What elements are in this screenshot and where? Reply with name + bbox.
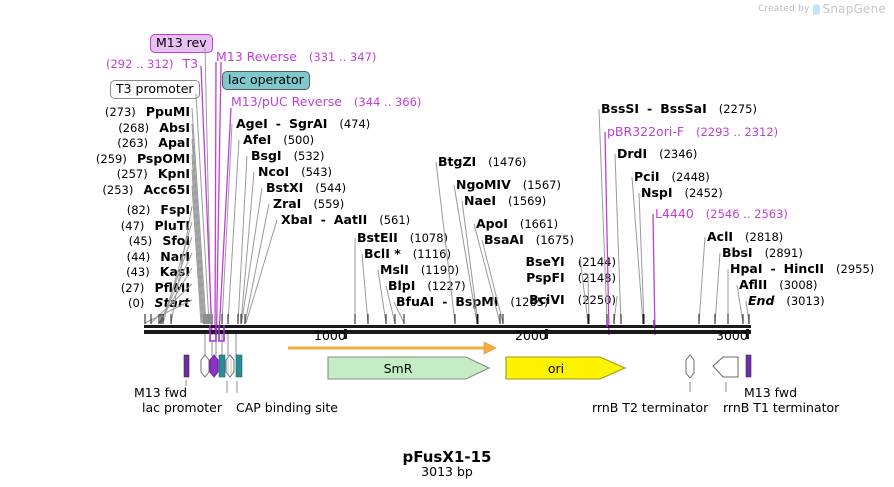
enzyme-row[interactable]: (44) NarI <box>0 246 190 262</box>
enzyme-name: BciVI <box>529 292 565 307</box>
enzyme-position: (544) <box>315 181 346 195</box>
enzyme-name: AgeI <box>236 116 268 131</box>
enzyme-row-bseyi[interactable]: BseYI (2144) <box>450 251 616 267</box>
enzyme-name-2: BssSaI <box>660 101 707 116</box>
enzyme-position: (0) <box>128 296 144 310</box>
enzyme-name-2: SgrAI <box>289 116 327 131</box>
boxed-label-m13-rev-text: M13 rev <box>156 35 207 50</box>
enzyme-separator: - <box>276 116 281 131</box>
enzyme-name: AclI <box>707 229 733 244</box>
enzyme-row-afei[interactable]: AfeI (500) <box>243 133 314 147</box>
enzyme-row-end[interactable]: End (3013) <box>748 294 825 308</box>
enzyme-position: (253) <box>102 183 133 197</box>
enzyme-position: (1661) <box>520 217 558 231</box>
enzyme-name: NcoI <box>258 164 289 179</box>
enzyme-name: BclI * <box>364 246 401 261</box>
enzyme-name-2: AatII <box>334 212 367 227</box>
primer-m13-reverse-range: (331 .. 347) <box>309 50 377 64</box>
feature-label-smr: SmR <box>328 361 468 376</box>
enzyme-list-right-bcivi: BciVI (2250) <box>450 289 616 308</box>
enzyme-position: (2955) <box>836 262 874 276</box>
enzyme-name: PciI <box>634 169 660 184</box>
enzyme-row-bcli[interactable]: BclI * (1116) <box>364 247 451 261</box>
primer-label-pbr322ori-f[interactable]: pBR322ori-F (2293 .. 2312) <box>607 125 778 139</box>
enzyme-row[interactable]: (43) KasI <box>0 261 190 277</box>
enzyme-list-left: (273) PpuMI (268) AbsI (263) ApaI (259) … <box>0 101 190 194</box>
plasmid-length: 3013 bp <box>0 464 894 479</box>
enzyme-row[interactable]: (268) AbsI <box>0 117 190 133</box>
snapgene-watermark: Created by SnapGene <box>758 2 886 16</box>
enzyme-name: BstEII <box>357 230 398 245</box>
enzyme-name: AflII <box>739 277 767 292</box>
enzyme-row[interactable]: (263) ApaI <box>0 132 190 148</box>
primer-brackets-right <box>607 320 654 327</box>
enzyme-name: XbaI <box>281 212 313 227</box>
enzyme-list-right-lower: BseYI (2144) PspFI (2148) <box>450 251 616 283</box>
enzyme-name: MslI <box>380 262 409 277</box>
enzyme-separator: - <box>770 261 775 276</box>
watermark-brand: SnapGene <box>823 2 886 16</box>
enzyme-name: BsgI <box>251 148 282 163</box>
enzyme-row-ngomiv[interactable]: NgoMIV (1567) <box>456 178 561 192</box>
enzyme-row[interactable]: (27) PflMI <box>0 277 190 293</box>
enzyme-position: (1116) <box>413 247 451 261</box>
feature-label-m13-fwd-left: M13 fwd <box>134 385 187 400</box>
feature-label-rrnb-t2-terminator: rrnB T2 terminator <box>592 400 708 415</box>
boxed-label-t3-promoter[interactable]: T3 promoter <box>110 80 200 99</box>
enzyme-name: NaeI <box>464 193 496 208</box>
enzyme-row-btgzi[interactable]: BtgZI (1476) <box>438 155 526 169</box>
feature-label-stems <box>186 380 237 393</box>
enzyme-name: BsaAI <box>484 232 524 247</box>
feature-label-lac-promoter: lac promoter <box>142 400 222 415</box>
plasmid-map-canvas: Created by SnapGene M13 rev lac operator… <box>0 0 894 487</box>
enzyme-row-nspi[interactable]: NspI (2452) <box>641 186 723 200</box>
enzyme-position: (1078) <box>410 231 448 245</box>
enzyme-row-bstei[interactable]: BstEII (1078) <box>357 231 448 245</box>
enzyme-row[interactable]: (82) FspI <box>0 199 190 215</box>
primer-t3-range: (292 .. 312) <box>106 57 174 71</box>
enzyme-row-msli[interactable]: MslI (1190) <box>380 263 459 277</box>
enzyme-name: Start <box>154 295 190 310</box>
enzyme-row-hpai-hincii[interactable]: HpaI - HincII (2955) <box>730 262 874 276</box>
primer-m13-puc-reverse-range: (344 .. 366) <box>354 95 422 109</box>
plasmid-backbone-top <box>144 325 751 328</box>
enzyme-row[interactable]: (259) PspOMI <box>0 148 190 164</box>
enzyme-name: BssSI <box>601 101 639 116</box>
ruler-label-1000: 1000 <box>314 328 346 343</box>
enzyme-name: End <box>748 293 774 308</box>
enzyme-position: (2346) <box>659 147 697 161</box>
feature-glyph-m13-fwd-right[interactable] <box>746 355 751 377</box>
enzyme-name: NspI <box>641 185 673 200</box>
enzyme-name: PspFI <box>526 270 565 285</box>
enzyme-name: ApoI <box>476 216 508 231</box>
feature-label-cap-binding-site: CAP binding site <box>236 400 338 415</box>
enzyme-row-bsssi-bsssai[interactable]: BssSI - BssSaI (2275) <box>601 102 757 116</box>
enzyme-name: AfeI <box>243 132 271 147</box>
feature-label-ori: ori <box>506 361 606 376</box>
enzyme-name: NgoMIV <box>456 177 511 192</box>
primer-brackets <box>210 325 224 341</box>
boxed-label-lac-operator-text: lac operator <box>228 72 304 87</box>
enzyme-row-bbsi[interactable]: BbsI (2891) <box>722 246 803 260</box>
enzyme-row-drdi[interactable]: DrdI (2346) <box>617 147 697 161</box>
primer-label-m13-reverse[interactable]: M13 Reverse (331 .. 347) <box>216 50 376 64</box>
enzyme-row-apoi[interactable]: ApoI (1661) <box>476 217 558 231</box>
enzyme-position: (559) <box>313 197 344 211</box>
enzyme-row-xbai-aatii[interactable]: XbaI - AatII (561) <box>281 213 410 227</box>
enzyme-row-bstxi[interactable]: BstXI (544) <box>266 181 346 195</box>
enzyme-position: (532) <box>294 149 325 163</box>
feature-glyph-rrnb-t2[interactable] <box>686 355 694 392</box>
enzyme-name: DrdI <box>617 146 647 161</box>
enzyme-position: (2148) <box>578 271 616 285</box>
watermark-prefix: Created by <box>758 4 810 14</box>
enzyme-row-bcivi[interactable]: BciVI (2250) <box>450 289 616 308</box>
enzyme-position: (2448) <box>672 170 710 184</box>
primer-label-t3[interactable]: (292 .. 312) T3 <box>106 57 198 71</box>
enzyme-list-left-lower: (82) FspI (47) PluTI (45) SfoI (44) NarI… <box>0 199 190 308</box>
boxed-label-m13-rev[interactable]: M13 rev <box>150 34 213 53</box>
enzyme-position: (1476) <box>488 155 526 169</box>
primer-label-l4440[interactable]: L4440 (2546 .. 2563) <box>655 207 788 221</box>
enzyme-name: BtgZI <box>438 154 476 169</box>
primer-l4440-name: L4440 <box>655 206 694 221</box>
enzyme-position: (2250) <box>578 293 616 307</box>
enzyme-name: Acc65I <box>143 182 190 197</box>
enzyme-row[interactable]: (47) PluTI <box>0 215 190 231</box>
enzyme-separator: - <box>442 294 447 309</box>
ruler-label-2000: 2000 <box>515 328 547 343</box>
boxed-label-t3-promoter-text: T3 promoter <box>116 81 194 96</box>
enzyme-position: (2275) <box>719 102 757 116</box>
leader-lines-primers <box>201 62 231 335</box>
enzyme-row-start[interactable]: (0) Start <box>0 292 190 308</box>
primer-label-m13-puc-reverse[interactable]: M13/pUC Reverse (344 .. 366) <box>231 95 421 109</box>
primer-t3-name: T3 <box>182 56 198 71</box>
enzyme-position: (474) <box>339 117 370 131</box>
enzyme-name: ZraI <box>273 196 301 211</box>
primer-m13-reverse-name: M13 Reverse <box>216 49 297 64</box>
enzyme-separator: - <box>321 212 326 227</box>
enzyme-position: (2891) <box>765 246 803 260</box>
enzyme-name: BbsI <box>722 245 753 260</box>
enzyme-row[interactable]: (273) PpuMI <box>0 101 190 117</box>
primer-pbr322ori-f-name: pBR322ori-F <box>607 124 684 139</box>
enzyme-row-agei-sgrai[interactable]: AgeI - SgrAI (474) <box>236 117 370 131</box>
feature-label-rrnb-t1-terminator: rrnB T1 terminator <box>723 400 839 415</box>
primer-m13-puc-reverse-name: M13/pUC Reverse <box>231 94 342 109</box>
enzyme-name: BlpI <box>388 278 415 293</box>
enzyme-position: (1675) <box>536 233 574 247</box>
enzyme-position: (2818) <box>745 230 783 244</box>
enzyme-row-aflii[interactable]: AflII (3008) <box>739 278 817 292</box>
enzyme-position: (3008) <box>779 278 817 292</box>
ruler-label-3000: 3000 <box>716 328 748 343</box>
enzyme-position: (2452) <box>685 186 723 200</box>
enzyme-row[interactable]: (45) SfoI <box>0 230 190 246</box>
enzyme-name: BstXI <box>266 180 303 195</box>
enzyme-row-pcii[interactable]: PciI (2448) <box>634 170 710 184</box>
enzyme-position: (543) <box>301 165 332 179</box>
enzyme-row[interactable]: (253) Acc65I <box>0 179 190 195</box>
enzyme-position: (3013) <box>786 294 824 308</box>
enzyme-row-bsgi[interactable]: BsgI (532) <box>251 149 325 163</box>
enzyme-name: HpaI <box>730 261 763 276</box>
boxed-label-lac-operator[interactable]: lac operator <box>222 71 310 90</box>
enzyme-separator: - <box>647 101 652 116</box>
enzyme-position: (561) <box>379 213 410 227</box>
enzyme-name: BfuAI <box>396 294 434 309</box>
primer-l4440-range: (2546 .. 2563) <box>706 207 788 221</box>
restriction-tick-marks <box>145 314 749 324</box>
enzyme-position: (1569) <box>508 194 546 208</box>
enzyme-row-pspfi[interactable]: PspFI (2148) <box>450 267 616 283</box>
feature-stems <box>205 334 236 356</box>
enzyme-row-acli[interactable]: AclI (2818) <box>707 230 783 244</box>
feature-glyph-cluster[interactable] <box>184 355 242 377</box>
enzyme-position: (1567) <box>523 178 561 192</box>
feature-glyph-rrnb-t1[interactable] <box>713 357 738 392</box>
feature-promoter-arrow[interactable] <box>288 342 496 354</box>
enzyme-name-2: HincII <box>784 261 824 276</box>
feature-label-m13-fwd-right: M13 fwd <box>744 385 797 400</box>
plasmid-backbone-bottom <box>144 330 751 334</box>
enzyme-row-zrai[interactable]: ZraI (559) <box>273 197 344 211</box>
snapgene-logo-icon <box>813 4 820 15</box>
enzyme-position: (500) <box>283 133 314 147</box>
primer-pbr322ori-f-range: (2293 .. 2312) <box>696 125 778 139</box>
enzyme-row-bsaai[interactable]: BsaAI (1675) <box>484 233 574 247</box>
enzyme-row-ncoi[interactable]: NcoI (543) <box>258 165 332 179</box>
enzyme-row-naei[interactable]: NaeI (1569) <box>464 194 546 208</box>
